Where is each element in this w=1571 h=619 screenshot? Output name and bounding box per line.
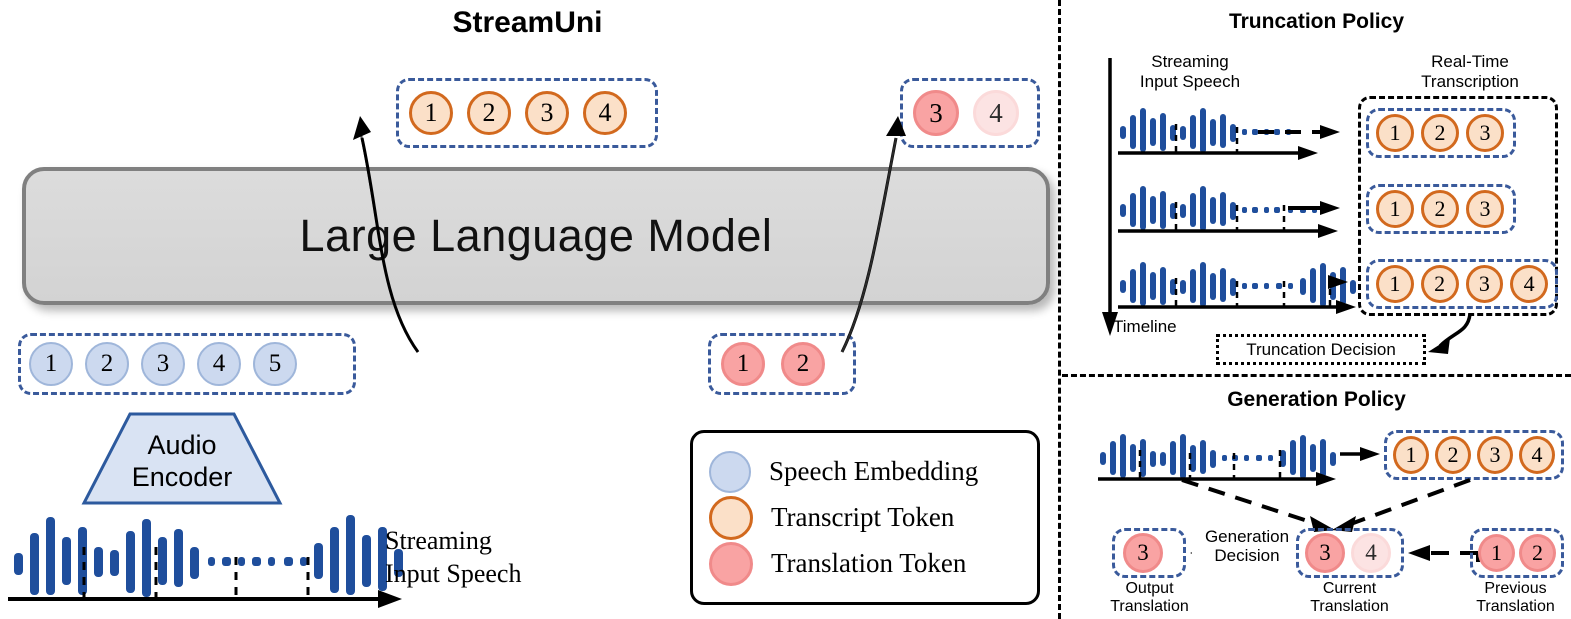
truncation-dashed-arrow-row2 — [1288, 196, 1346, 220]
audio-encoder-shape: Audio Encoder — [82, 412, 282, 505]
transcript-token[interactable]: 2 — [467, 91, 511, 135]
generation-transcript-group: 1 2 3 4 — [1384, 430, 1564, 480]
generation-transcript-arrow — [1340, 442, 1384, 466]
translation-token[interactable]: 3 — [1123, 533, 1163, 573]
generation-policy-title: Generation Policy — [1062, 388, 1571, 412]
transcription-row-2: 1 2 3 — [1366, 184, 1516, 234]
truncation-dashed-arrow-row3 — [1322, 270, 1352, 294]
transcription-row-3: 1 2 3 4 — [1366, 259, 1558, 309]
truncation-output-label-line2: Transcription — [1375, 72, 1565, 92]
transcript-token[interactable]: 4 — [583, 91, 627, 135]
speech-embedding-group: 1 2 3 4 5 — [18, 333, 356, 395]
legend-label: Translation Token — [771, 548, 966, 579]
output-translation-caption-line1: Output — [1092, 580, 1207, 598]
truncation-decision-hook-arrow — [1424, 314, 1490, 366]
transcript-token[interactable]: 1 — [1393, 436, 1429, 474]
translation-token[interactable]: 3 — [1305, 533, 1345, 573]
translation-token-faded[interactable]: 4 — [973, 90, 1019, 136]
transcript-token[interactable]: 3 — [1477, 436, 1513, 474]
truncation-decision-label: Truncation Decision — [1246, 340, 1396, 360]
transcript-token[interactable]: 1 — [1376, 190, 1414, 228]
legend-label: Speech Embedding — [769, 456, 978, 487]
transcript-token-icon — [709, 496, 753, 540]
speech-embedding-token[interactable]: 5 — [253, 342, 297, 386]
speech-embedding-token[interactable]: 1 — [29, 342, 73, 386]
translation-token-faded[interactable]: 4 — [1351, 533, 1391, 573]
legend-label: Transcript Token — [771, 502, 954, 533]
truncation-output-label: Real-Time Transcription — [1375, 52, 1565, 91]
translation-token[interactable]: 2 — [1519, 534, 1556, 572]
output-translation-group: 3 — [1112, 528, 1186, 578]
transcript-token[interactable]: 3 — [1466, 265, 1504, 303]
current-translation-caption: Current Translation — [1292, 580, 1407, 617]
audio-encoder-label-line1: Audio — [147, 430, 216, 461]
legend-item-speech-embedding: Speech Embedding — [709, 449, 1021, 495]
transcript-token[interactable]: 4 — [1519, 436, 1555, 474]
translation-token[interactable]: 3 — [913, 90, 959, 136]
streaming-input-waveform — [8, 505, 408, 610]
previous-translation-caption: Previous Translation — [1458, 580, 1571, 617]
transcript-token[interactable]: 2 — [1421, 190, 1459, 228]
transcript-token[interactable]: 1 — [1376, 114, 1414, 152]
input-speech-label-line1: Streaming — [385, 525, 585, 558]
speech-embedding-token[interactable]: 3 — [141, 342, 185, 386]
output-translation-caption-line2: Translation — [1092, 598, 1207, 616]
generation-decision-line1: Generation — [1192, 528, 1302, 547]
generation-decision-line2: Decision — [1192, 547, 1302, 566]
transcript-token[interactable]: 1 — [1376, 265, 1414, 303]
speech-embedding-token[interactable]: 4 — [197, 342, 241, 386]
transcript-token[interactable]: 3 — [1466, 114, 1504, 152]
current-translation-group: 3 4 — [1296, 528, 1404, 578]
transcript-token[interactable]: 2 — [1421, 114, 1459, 152]
timeline-label: Timeline — [1113, 317, 1177, 337]
translation-to-output-arrow — [828, 100, 918, 360]
panel-horizontal-divider — [1062, 374, 1571, 377]
translation-output-group: 3 4 — [900, 78, 1040, 148]
previous-translation-caption-line1: Previous — [1458, 580, 1571, 598]
translation-token-icon — [709, 542, 753, 586]
truncation-decision-box[interactable]: Truncation Decision — [1216, 334, 1426, 365]
legend-box: Speech Embedding Transcript Token Transl… — [690, 430, 1040, 605]
transcription-row-1: 1 2 3 — [1366, 108, 1516, 158]
audio-encoder-label-line2: Encoder — [132, 462, 233, 493]
truncation-output-label-line1: Real-Time — [1375, 52, 1565, 72]
previous-translation-caption-line2: Translation — [1458, 598, 1571, 616]
input-speech-label-line2: Input Speech — [385, 558, 585, 591]
truncation-policy-title: Truncation Policy — [1062, 10, 1571, 34]
speech-to-transcript-arrow — [340, 100, 410, 360]
legend-item-translation-token: Translation Token — [709, 541, 1021, 587]
previous-translation-group: 1 2 — [1470, 528, 1564, 578]
page-title: StreamUni — [0, 6, 1055, 40]
translation-token[interactable]: 2 — [781, 342, 825, 386]
transcript-token[interactable]: 3 — [525, 91, 569, 135]
streaming-input-speech-label: Streaming Input Speech — [385, 525, 585, 590]
transcript-token[interactable]: 2 — [1435, 436, 1471, 474]
output-translation-caption: Output Translation — [1092, 580, 1207, 617]
transcript-token[interactable]: 1 — [409, 91, 453, 135]
transcript-token[interactable]: 2 — [1421, 265, 1459, 303]
generation-decision-label: Generation Decision — [1192, 528, 1302, 565]
translation-token[interactable]: 1 — [721, 342, 765, 386]
panel-vertical-divider — [1058, 0, 1061, 619]
transcript-token[interactable]: 4 — [1510, 265, 1548, 303]
current-translation-caption-line2: Translation — [1292, 598, 1407, 616]
speech-embedding-token[interactable]: 2 — [85, 342, 129, 386]
truncation-dashed-arrow-row1 — [1258, 120, 1346, 144]
transcript-token[interactable]: 3 — [1466, 190, 1504, 228]
transcript-token-group: 1 2 3 4 — [396, 78, 658, 148]
translation-token[interactable]: 1 — [1478, 534, 1515, 572]
legend-item-transcript-token: Transcript Token — [709, 495, 1021, 541]
current-translation-caption-line1: Current — [1292, 580, 1407, 598]
speech-embedding-icon — [709, 451, 751, 493]
